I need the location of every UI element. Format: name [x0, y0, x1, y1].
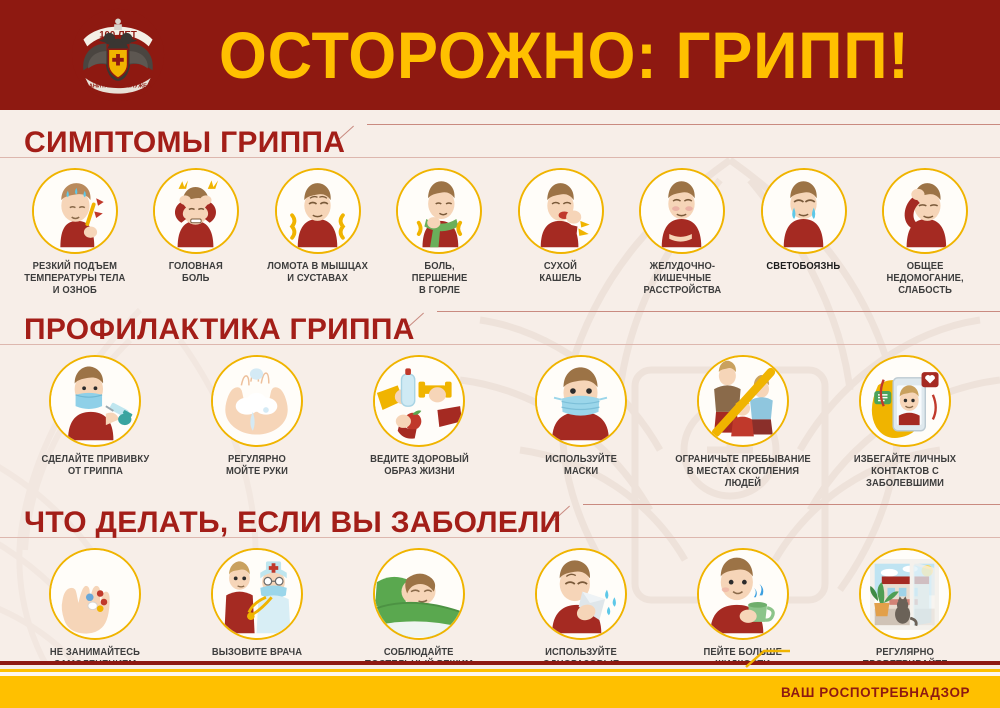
- section-header-symptoms: СИМПТОМЫ ГРИППА: [0, 116, 1000, 158]
- symptom-item[interactable]: РЕЗКИЙ ПОДЪЕМ ТЕМПЕРАТУРЫ ТЕЛА И ОЗНОБ: [19, 168, 131, 297]
- prevention-label: ИЗБЕГАЙТЕ ЛИЧНЫХ КОНТАКТОВ С ЗАБОЛЕВШИМИ: [834, 454, 977, 490]
- symptoms-row: РЕЗКИЙ ПОДЪЕМ ТЕМПЕРАТУРЫ ТЕЛА И ОЗНОБ: [0, 158, 1000, 297]
- fever-thermometer-icon: [32, 168, 118, 254]
- page-title: ОСТОРОЖНО: ГРИПП!: [195, 17, 971, 93]
- poster-root: 100 ЛЕТ САН: [0, 0, 1000, 708]
- symptom-item[interactable]: БОЛЬ, ПЕРШЕНИЕ В ГОРЛЕ: [383, 168, 495, 297]
- prevention-item[interactable]: СДЕЛАЙТЕ ПРИВИВКУ ОТ ГРИППА: [19, 355, 171, 478]
- prevention-label: ОГРАНИЧЬТЕ ПРЕБЫВАНИЕ В МЕСТАХ СКОПЛЕНИЯ…: [672, 454, 815, 490]
- bed-rest-icon: [373, 548, 465, 640]
- symptom-label: СУХОЙ КАШЕЛЬ: [540, 261, 582, 285]
- symptom-item[interactable]: ЛОМОТА В МЫШЦАХ И СУСТАВАХ: [262, 168, 374, 285]
- section-divider: [421, 303, 1000, 345]
- headache-icon: [153, 168, 239, 254]
- footer-text: ВАШ РОСПОТРЕБНАДЗОР: [781, 684, 970, 700]
- symptom-label: СВЕТОБОЯЗНЬ: [767, 261, 841, 273]
- prevention-item[interactable]: ОГРАНИЧЬТЕ ПРЕБЫВАНИЕ В МЕСТАХ СКОПЛЕНИЯ…: [667, 355, 819, 490]
- svg-text:САНИТАРНАЯ СЛУЖБА: САНИТАРНАЯ СЛУЖБА: [85, 84, 152, 90]
- if-sick-item[interactable]: СОБЛЮДАЙТЕ ПОСТЕЛЬНЫЙ РЕЖИМ: [343, 548, 495, 671]
- section-header-prevention: ПРОФИЛАКТИКА ГРИППА: [0, 303, 1000, 345]
- wash-hands-soap-icon: [211, 355, 303, 447]
- sore-throat-scarf-icon: [396, 168, 482, 254]
- section-header-if-sick: ЧТО ДЕЛАТЬ, ЕСЛИ ВЫ ЗАБОЛЕЛИ: [0, 496, 1000, 538]
- avoid-crowds-icon: [697, 355, 789, 447]
- symptom-item[interactable]: ЖЕЛУДОЧНО- КИШЕЧНЫЕ РАССТРОЙСТВА: [626, 168, 738, 297]
- symptom-label: ОБЩЕЕ НЕДОМОГАНИЕ, СЛАБОСТЬ: [887, 261, 964, 297]
- section-prevention: ПРОФИЛАКТИКА ГРИППА: [0, 303, 1000, 490]
- footer-bar: ВАШ РОСПОТРЕБНАДЗОР: [0, 676, 1000, 708]
- healthy-lifestyle-icon: [373, 355, 465, 447]
- if-sick-item[interactable]: ПЕЙТЕ БОЛЬШЕ ЖИДКОСТИ: [667, 548, 819, 671]
- if-sick-item[interactable]: ВЫЗОВИТЕ ВРАЧА: [181, 548, 333, 659]
- drink-fluids-cup-icon: [697, 548, 789, 640]
- prevention-item[interactable]: РЕГУЛЯРНО МОЙТЕ РУКИ: [181, 355, 333, 478]
- call-doctor-icon: [211, 548, 303, 640]
- symptom-item[interactable]: СВЕТОБОЯЗНЬ: [748, 168, 860, 273]
- prevention-label: СДЕЛАЙТЕ ПРИВИВКУ ОТ ГРИППА: [41, 454, 149, 478]
- stomach-ache-icon: [639, 168, 725, 254]
- section-title: ПРОФИЛАКТИКА ГРИППА: [24, 315, 421, 345]
- prevention-item[interactable]: ИСПОЛЬЗУЙТЕ МАСКИ: [505, 355, 657, 478]
- dry-cough-icon: [518, 168, 604, 254]
- symptom-label: БОЛЬ, ПЕРШЕНИЕ В ГОРЛЕ: [411, 261, 467, 297]
- rospotrebnadzor-emblem: 100 ЛЕТ САН: [70, 7, 166, 103]
- section-divider: [567, 496, 1000, 538]
- symptom-label: ЖЕЛУДОЧНО- КИШЕЧНЫЕ РАССТРОЙСТВА: [643, 261, 721, 297]
- ventilate-room-window-icon: [859, 548, 951, 640]
- prevention-item[interactable]: ИЗБЕГАЙТЕ ЛИЧНЫХ КОНТАКТОВ С ЗАБОЛЕВШИМИ: [829, 355, 981, 490]
- vaccination-syringe-icon: [49, 355, 141, 447]
- pills-hand-icon: [49, 548, 141, 640]
- if-sick-label: ВЫЗОВИТЕ ВРАЧА: [212, 647, 302, 659]
- footer-diagonal-accent: [744, 649, 790, 669]
- symptom-label: РЕЗКИЙ ПОДЪЕМ ТЕМПЕРАТУРЫ ТЕЛА И ОЗНОБ: [24, 261, 125, 297]
- if-sick-item[interactable]: НЕ ЗАНИМАЙТЕСЬ САМОЛЕЧЕНИЕМ: [19, 548, 171, 671]
- face-mask-icon: [535, 355, 627, 447]
- prevention-label: РЕГУЛЯРНО МОЙТЕ РУКИ: [226, 454, 288, 478]
- symptom-label: ЛОМОТА В МЫШЦАХ И СУСТАВАХ: [267, 261, 368, 285]
- prevention-label: ВЕДИТЕ ЗДОРОВЫЙ ОБРАЗ ЖИЗНИ: [370, 454, 469, 478]
- symptom-item[interactable]: ГОЛОВНАЯ БОЛЬ: [140, 168, 252, 285]
- avoid-contact-phone-icon: [859, 355, 951, 447]
- prevention-row: СДЕЛАЙТЕ ПРИВИВКУ ОТ ГРИППА: [0, 345, 1000, 490]
- prevention-label: ИСПОЛЬЗУЙТЕ МАСКИ: [545, 454, 617, 478]
- tissue-sneeze-icon: [535, 548, 627, 640]
- section-symptoms: СИМПТОМЫ ГРИППА: [0, 116, 1000, 297]
- muscle-joint-ache-icon: [275, 168, 361, 254]
- photophobia-teary-eyes-icon: [761, 168, 847, 254]
- prevention-item[interactable]: ВЕДИТЕ ЗДОРОВЫЙ ОБРАЗ ЖИЗНИ: [343, 355, 495, 478]
- poster-footer: ВАШ РОСПОТРЕБНАДЗОР: [0, 661, 1000, 708]
- weakness-malaise-icon: [882, 168, 968, 254]
- symptom-item[interactable]: СУХОЙ КАШЕЛЬ: [505, 168, 617, 285]
- section-title: СИМПТОМЫ ГРИППА: [24, 128, 351, 158]
- symptom-label: ГОЛОВНАЯ БОЛЬ: [169, 261, 223, 285]
- symptom-item[interactable]: ОБЩЕЕ НЕДОМОГАНИЕ, СЛАБОСТЬ: [869, 168, 981, 297]
- section-divider: [351, 116, 1000, 158]
- section-title: ЧТО ДЕЛАТЬ, ЕСЛИ ВЫ ЗАБОЛЕЛИ: [24, 508, 567, 538]
- poster-header: 100 ЛЕТ САН: [0, 0, 1000, 110]
